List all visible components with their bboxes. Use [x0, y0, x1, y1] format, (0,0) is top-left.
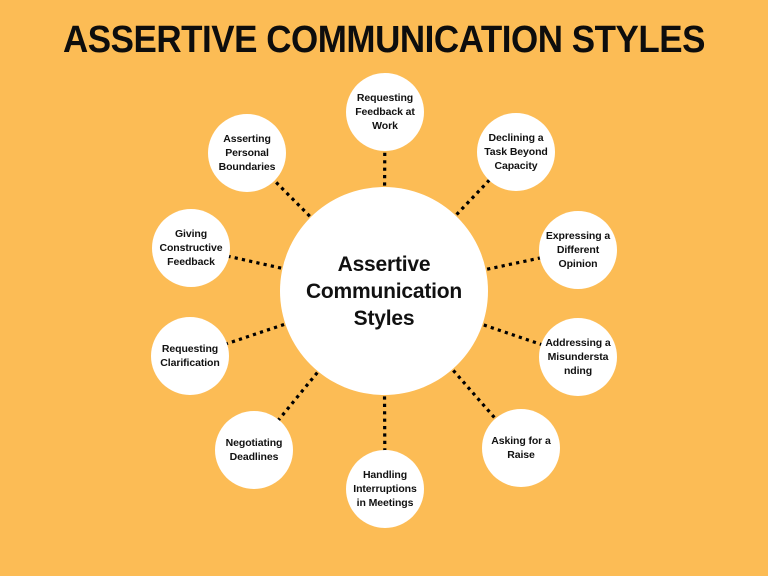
- node-label-declining-a-task-beyond-capacity: Declining a Task Beyond Capacity: [481, 131, 551, 173]
- connector-negotiating-deadlines: [275, 367, 322, 425]
- node-label-requesting-feedback-at-work: Requesting Feedback at Work: [350, 91, 420, 133]
- connector-asking-for-a-raise: [448, 365, 499, 423]
- connector-declining-a-task-beyond-capacity: [451, 176, 493, 220]
- node-circle-asserting-personal-boundaries[interactable]: Asserting Personal Boundaries: [208, 114, 286, 192]
- hub-label: Assertive Communication Styles: [286, 251, 482, 332]
- node-circle-requesting-feedback-at-work[interactable]: Requesting Feedback at Work: [346, 73, 424, 151]
- connector-giving-constructive-feedback: [223, 255, 288, 270]
- node-label-addressing-a-misunderstanding: Addressing a Misundersta nding: [543, 336, 613, 378]
- connector-asserting-personal-boundaries: [270, 176, 315, 221]
- node-label-negotiating-deadlines: Negotiating Deadlines: [219, 436, 289, 464]
- node-label-asserting-personal-boundaries: Asserting Personal Boundaries: [212, 132, 282, 174]
- node-label-requesting-clarification: Requesting Clarification: [155, 342, 225, 370]
- node-circle-addressing-a-misunderstanding[interactable]: Addressing a Misundersta nding: [539, 318, 617, 396]
- node-label-asking-for-a-raise: Asking for a Raise: [486, 434, 556, 462]
- node-label-handling-interruptions-in-meetings: Handling Interruptions in Meetings: [350, 468, 420, 510]
- node-label-expressing-a-different-opinion: Expressing a Different Opinion: [543, 229, 613, 271]
- hub-circle[interactable]: Assertive Communication Styles: [280, 187, 488, 395]
- node-label-giving-constructive-feedback: Giving Constructive Feedback: [156, 227, 226, 269]
- node-circle-handling-interruptions-in-meetings[interactable]: Handling Interruptions in Meetings: [346, 450, 424, 528]
- connector-expressing-a-different-opinion: [480, 257, 546, 271]
- connector-addressing-a-misunderstanding: [477, 323, 547, 347]
- node-circle-requesting-clarification[interactable]: Requesting Clarification: [151, 317, 229, 395]
- node-circle-declining-a-task-beyond-capacity[interactable]: Declining a Task Beyond Capacity: [477, 113, 555, 191]
- connector-requesting-clarification: [221, 322, 291, 345]
- node-circle-giving-constructive-feedback[interactable]: Giving Constructive Feedback: [152, 209, 230, 287]
- infographic-canvas: ASSERTIVE COMMUNICATION STYLES Requestin…: [0, 0, 768, 576]
- node-circle-negotiating-deadlines[interactable]: Negotiating Deadlines: [215, 411, 293, 489]
- node-circle-expressing-a-different-opinion[interactable]: Expressing a Different Opinion: [539, 211, 617, 289]
- node-circle-asking-for-a-raise[interactable]: Asking for a Raise: [482, 409, 560, 487]
